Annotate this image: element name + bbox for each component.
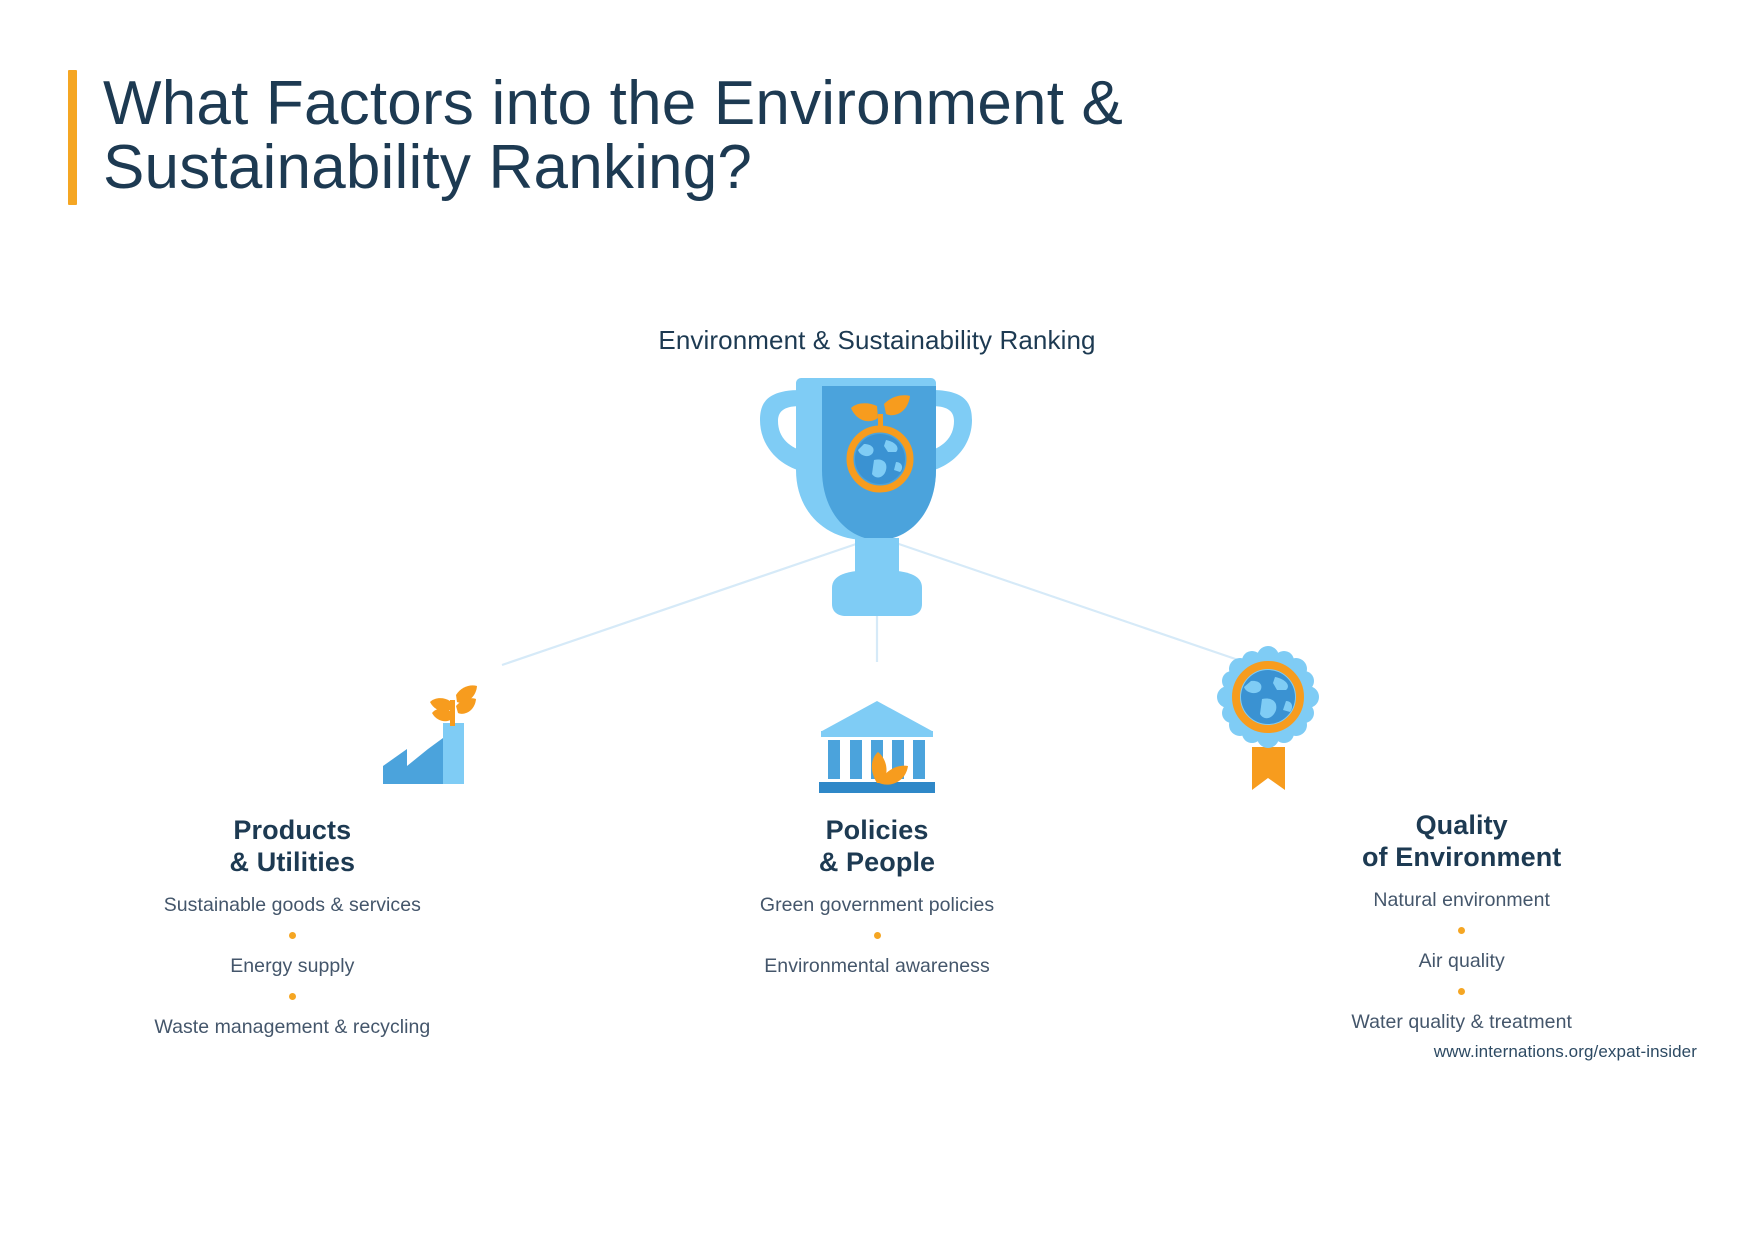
- column-item: Energy supply: [40, 953, 545, 979]
- item-separator-dot: [289, 993, 296, 1000]
- column-items: Natural environment Air quality Water qu…: [1209, 887, 1714, 1036]
- connector-lines: [502, 542, 1253, 665]
- diagram-heading: Environment & Sustainability Ranking: [0, 325, 1754, 356]
- column-title: Quality of Environment: [1209, 810, 1714, 874]
- factory-leaf-icon: [383, 685, 477, 784]
- item-separator-dot: [874, 932, 881, 939]
- column-item: Sustainable goods & services: [40, 892, 545, 918]
- column-item: Waste management & recycling: [40, 1014, 545, 1040]
- page-title: What Factors into the Environment & Sust…: [103, 70, 1123, 205]
- connector-line-right: [893, 542, 1253, 665]
- factor-column-policies-people: Policies & People Green government polic…: [585, 815, 1170, 1041]
- footer-url[interactable]: www.internations.org/expat-insider: [1434, 1042, 1697, 1062]
- factor-column-quality-of-environment: Quality of Environment Natural environme…: [1169, 810, 1754, 1041]
- column-title: Policies & People: [625, 815, 1130, 879]
- column-items: Green government policies Environmental …: [625, 892, 1130, 980]
- column-items: Sustainable goods & services Energy supp…: [40, 892, 545, 1041]
- trophy-globe-icon: [760, 378, 972, 616]
- column-item: Air quality: [1209, 948, 1714, 974]
- column-item: Water quality & treatment: [1209, 1009, 1714, 1035]
- column-item: Natural environment: [1209, 887, 1714, 913]
- column-title: Products & Utilities: [40, 815, 545, 879]
- page-title-block: What Factors into the Environment & Sust…: [68, 70, 1123, 205]
- factor-column-products-utilities: Products & Utilities Sustainable goods &…: [0, 815, 585, 1041]
- title-accent-bar: [68, 70, 77, 205]
- column-item: Environmental awareness: [625, 953, 1130, 979]
- item-separator-dot: [289, 932, 296, 939]
- government-building-leaf-icon: [819, 701, 935, 793]
- item-separator-dot: [1458, 988, 1465, 995]
- factor-columns: Products & Utilities Sustainable goods &…: [0, 815, 1754, 1041]
- column-item: Green government policies: [625, 892, 1130, 918]
- infographic-page: What Factors into the Environment & Sust…: [0, 0, 1754, 1240]
- item-separator-dot: [1458, 927, 1465, 934]
- connector-line-left: [502, 542, 862, 665]
- award-badge-globe-icon: [1217, 646, 1319, 790]
